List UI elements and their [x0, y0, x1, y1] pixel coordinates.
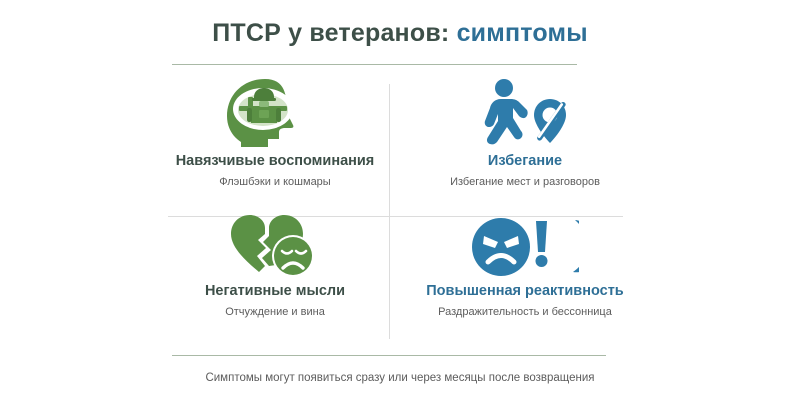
symptom-title: Повышенная реактивность	[426, 282, 623, 300]
walking-person-no-location-icon	[471, 76, 579, 150]
symptom-cell-negative-thoughts: Негативные мысли Отчуждение и вина	[150, 210, 400, 348]
symptom-subtitle: Отчуждение и вина	[225, 305, 325, 320]
page-title: ПТСР у ветеранов: симптомы	[0, 18, 800, 48]
divider-top-rule	[172, 64, 577, 65]
symptom-subtitle: Раздражительность и бессонница	[438, 305, 612, 320]
title-accent-text: симптомы	[457, 19, 588, 47]
symptom-cell-hyperarousal: Повышенная реактивность Раздражительност…	[400, 210, 650, 348]
symptom-cell-avoidance: Избегание Избегание мест и разговоров	[400, 72, 650, 210]
symptom-subtitle: Избегание мест и разговоров	[450, 175, 600, 190]
broken-heart-sad-face-icon	[221, 214, 329, 280]
head-soldier-thought-icon	[221, 76, 329, 150]
symptom-grid: Навязчивые воспоминания Флэшбэки и кошма…	[150, 72, 650, 347]
divider-bottom-rule	[172, 355, 606, 356]
infographic-poster: ПТСР у ветеранов: симптомы	[0, 0, 800, 400]
footer-note: Симптомы могут появиться сразу или через…	[0, 370, 800, 386]
symptom-title: Негативные мысли	[205, 282, 345, 300]
symptom-subtitle: Флэшбэки и кошмары	[219, 175, 330, 190]
title-main-text: ПТСР у ветеранов:	[212, 19, 449, 47]
symptom-title: Навязчивые воспоминания	[176, 152, 375, 170]
symptom-title: Избегание	[488, 152, 562, 170]
angry-face-exclamation-moon-icon	[471, 214, 579, 280]
symptom-cell-intrusive-memories: Навязчивые воспоминания Флэшбэки и кошма…	[150, 72, 400, 210]
